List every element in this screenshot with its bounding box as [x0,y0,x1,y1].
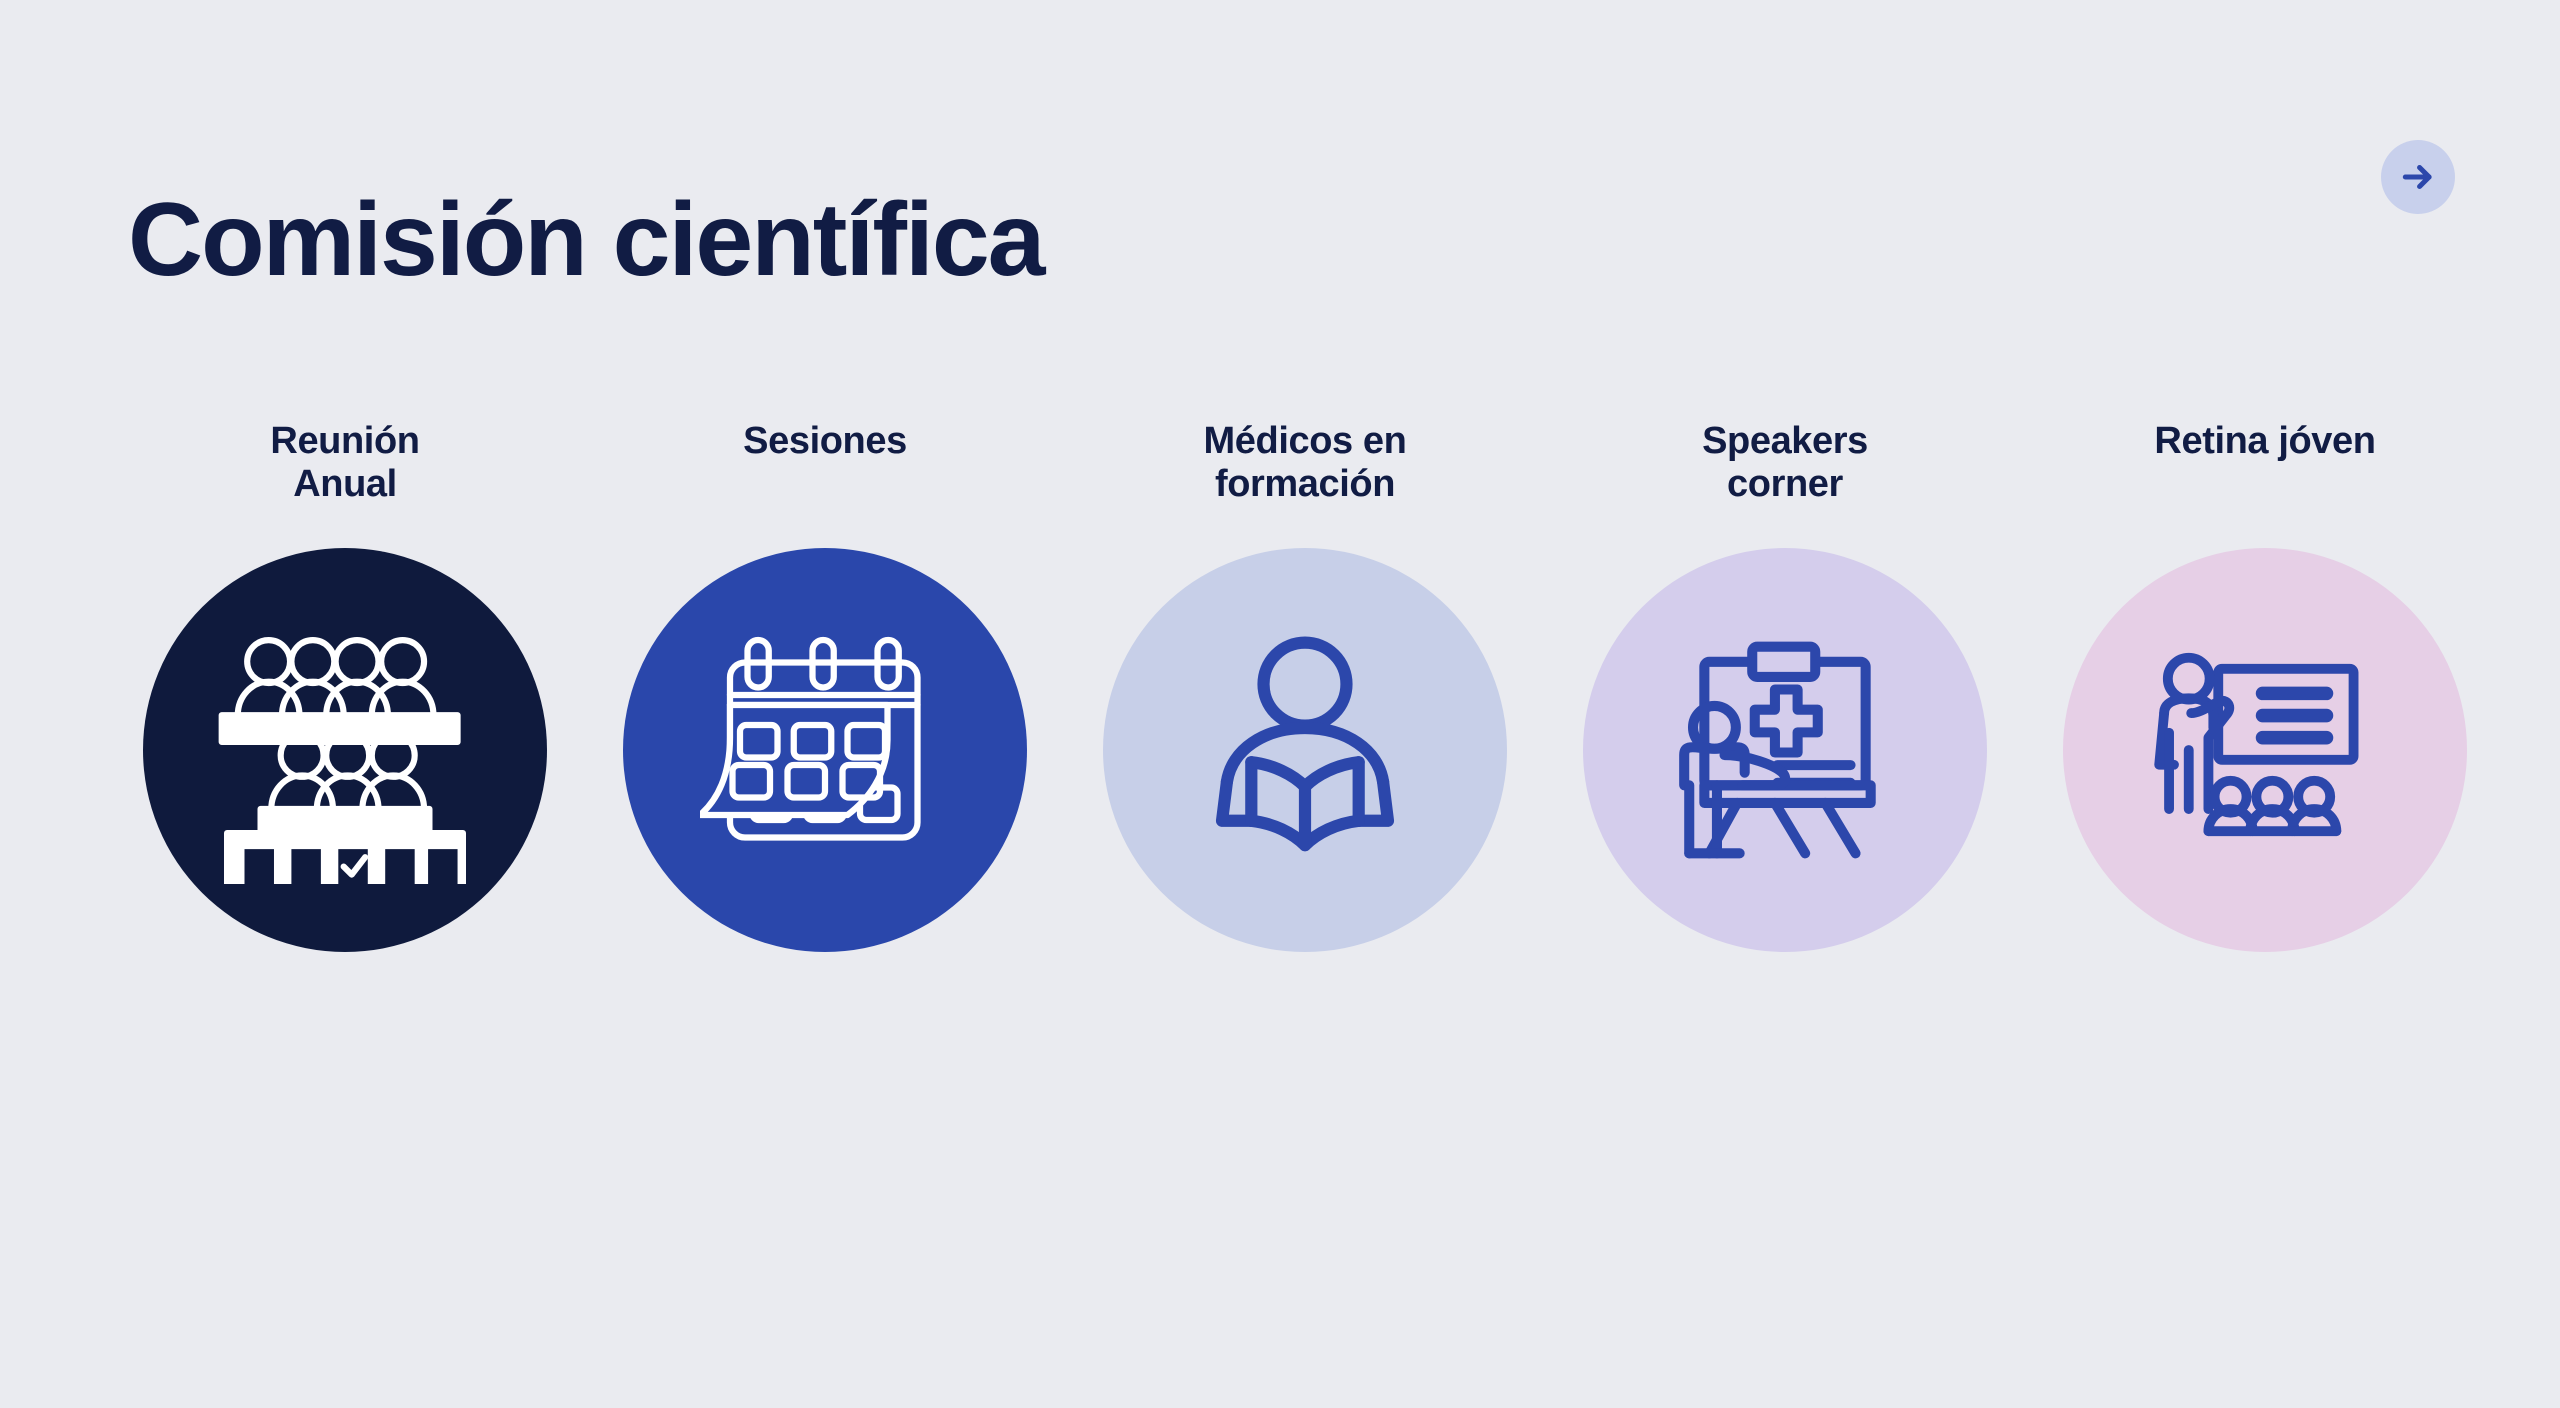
card-label: Reunión Anual [270,420,419,520]
card-icon-circle[interactable] [623,548,1027,952]
presenter-medical-board-icon [1659,624,1911,876]
teacher-audience-board-icon [2142,627,2388,873]
card-medicos-en-formacion[interactable]: Médicos en formación [1065,420,1545,952]
card-icon-circle[interactable] [1103,548,1507,952]
card-label: Sesiones [743,420,907,520]
card-icon-circle[interactable] [143,548,547,952]
card-list: Reunión Anual [105,420,2505,952]
card-label: Retina jóven [2154,420,2375,520]
card-icon-circle[interactable] [1583,548,1987,952]
audience-assembly-icon [211,616,479,884]
card-retina-joven[interactable]: Retina jóven [2025,420,2505,952]
card-sesiones[interactable]: Sesiones [585,420,1065,952]
calendar-icon [700,625,950,875]
arrow-right-icon [2399,158,2437,196]
card-speakers-corner[interactable]: Speakers corner [1545,420,2025,952]
slide-root: Comisión científica Reunión Anual [0,0,2560,1408]
card-label: Speakers corner [1702,420,1868,520]
next-slide-button[interactable] [2381,140,2455,214]
card-label: Médicos en formación [1204,420,1407,520]
page-title: Comisión científica [128,188,1044,292]
person-reading-book-icon [1183,628,1427,872]
card-reunion-anual[interactable]: Reunión Anual [105,420,585,952]
card-icon-circle[interactable] [2063,548,2467,952]
